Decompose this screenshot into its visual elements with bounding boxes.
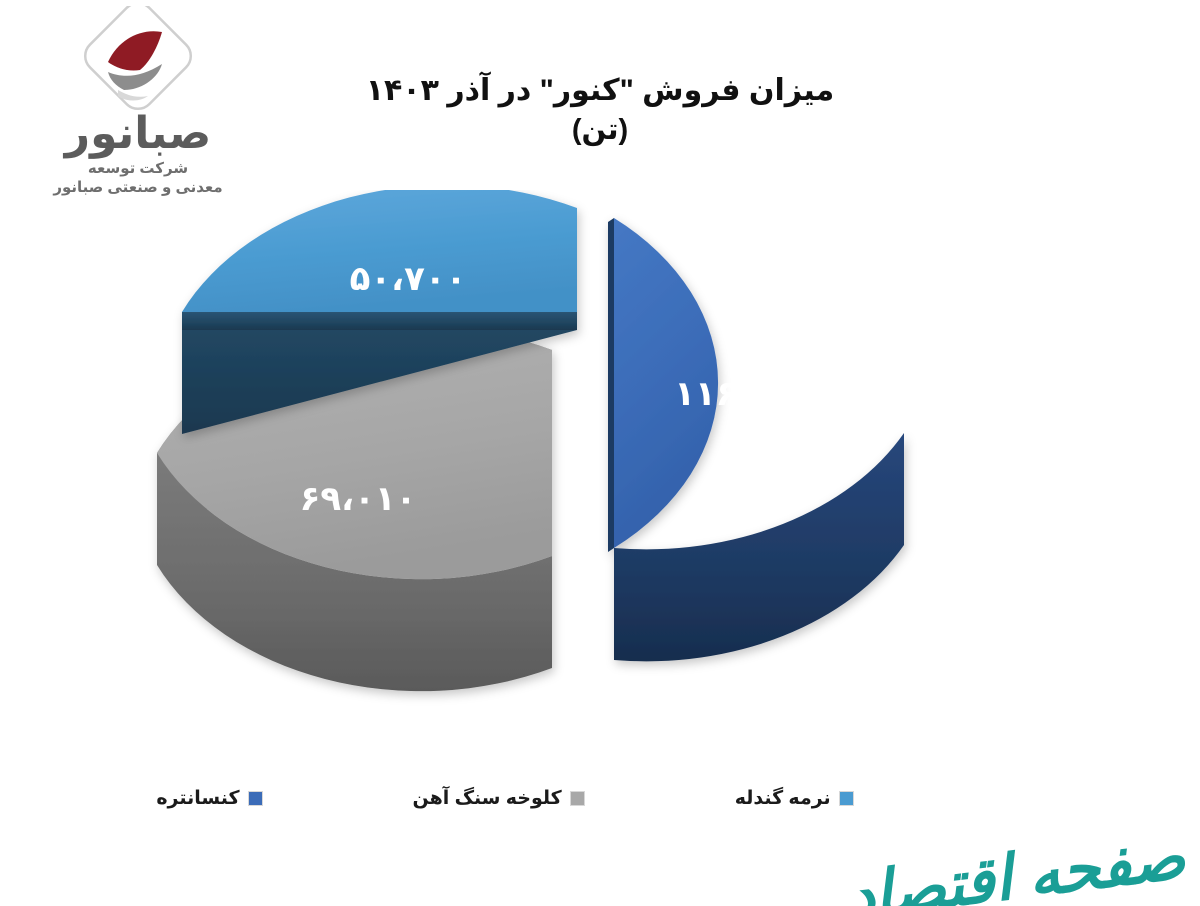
pie-chart: ۱۱۶،۱۸۶ ۶۹،۰۱۰ ۵۰،۷۰۰ (140, 190, 1080, 750)
watermark: صفحه اقتصاد (982, 778, 1192, 898)
pie-chart-svg: ۱۱۶،۱۸۶ ۶۹،۰۱۰ ۵۰،۷۰۰ (140, 190, 1080, 750)
legend-swatch-icon-narmeh-gondoleh (839, 791, 854, 806)
legend-swatch-icon-kolokheh (570, 791, 585, 806)
chart-legend: نرمه گندله کلوخه سنگ آهن کنسانتره (0, 778, 1010, 818)
legend-item-kolokheh[interactable]: کلوخه سنگ آهن (413, 789, 585, 808)
logo-wordmark: صبانور (18, 112, 258, 156)
chart-page: صبانور شرکت توسعه معدنی و صنعتی صبانور م… (0, 0, 1200, 906)
sabanour-emblem-icon (78, 6, 198, 118)
slice-value-narmeh-gondoleh: ۱۱۶،۱۸۶ (674, 375, 811, 413)
legend-swatch-icon-konsantreh (248, 791, 263, 806)
legend-label-kolokheh: کلوخه سنگ آهن (413, 789, 562, 808)
company-logo: صبانور شرکت توسعه معدنی و صنعتی صبانور (18, 6, 258, 221)
legend-item-konsantreh[interactable]: کنسانتره (156, 789, 262, 808)
chart-title: میزان فروش "کنور" در آذر ۱۴۰۳ (تن) (300, 72, 900, 149)
chart-title-unit: (تن) (300, 112, 900, 150)
legend-label-narmeh-gondoleh: نرمه گندله (735, 789, 831, 808)
chart-title-line-1: میزان فروش "کنور" در آذر ۱۴۰۳ (300, 72, 900, 110)
slice-value-konsantreh: ۵۰،۷۰۰ (350, 260, 467, 298)
slice-value-kolokheh: ۶۹،۰۱۰ (300, 480, 417, 518)
logo-subtitle-line-1: شرکت توسعه (18, 160, 258, 179)
pie-slice-narmeh-gondoleh[interactable] (510, 218, 904, 661)
legend-label-konsantreh: کنسانتره (156, 789, 239, 808)
watermark-text: صفحه اقتصاد (843, 826, 1188, 906)
legend-item-narmeh-gondoleh[interactable]: نرمه گندله (735, 789, 854, 808)
